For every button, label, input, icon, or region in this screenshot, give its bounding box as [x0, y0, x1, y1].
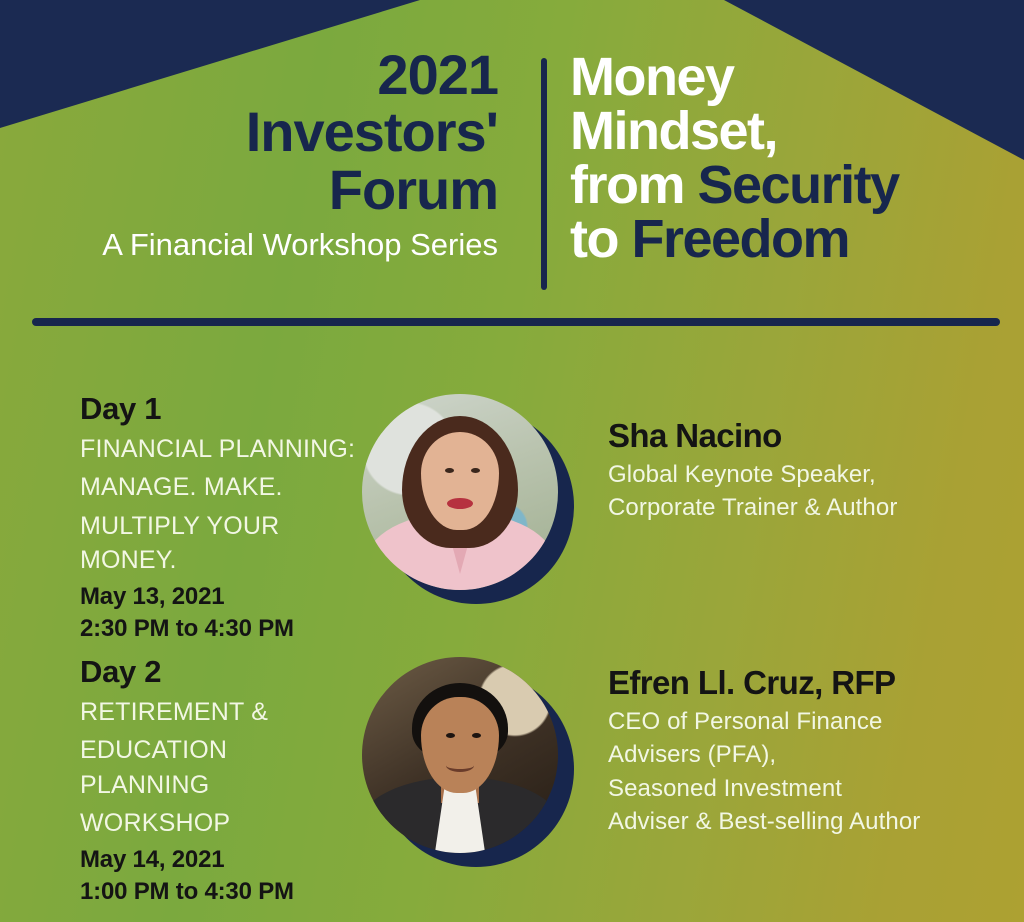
speaker-2-role-line-4: Adviser & Best-selling Author [608, 805, 1008, 838]
poster-header: 2021 Investors' Forum A Financial Worksh… [0, 46, 1024, 296]
speaker-1-name: Sha Nacino [608, 418, 1008, 454]
speaker-2-role-line-1: CEO of Personal Finance [608, 705, 1008, 738]
speaker-2-role-line-3: Seasoned Investment [608, 772, 1008, 805]
day-2-details: Day 2 RETIREMENT & EDUCATION PLANNING WO… [0, 655, 360, 908]
day-row: Day 1 FINANCIAL PLANNING: MANAGE. MAKE. … [0, 392, 1024, 645]
day-2-label: Day 2 [80, 655, 360, 689]
portrait-efren-cruz [362, 657, 558, 853]
speaker-2-photo-wrap [360, 655, 580, 875]
portrait-lips [447, 498, 473, 509]
day-row: Day 2 RETIREMENT & EDUCATION PLANNING WO… [0, 655, 1024, 908]
day-2-topic-line-1: RETIREMENT & [80, 695, 360, 729]
speaker-2-role-line-2: Advisers (PFA), [608, 738, 1008, 771]
event-subtitle: A Financial Workshop Series [0, 228, 498, 262]
speaker-2-name: Efren Ll. Cruz, RFP [608, 665, 1008, 701]
speaker-2-avatar [362, 657, 558, 853]
theme-word-from: from [570, 155, 698, 215]
day-1-time: 2:30 PM to 4:30 PM [80, 613, 360, 645]
day-1-topic-line-3: MULTIPLY YOUR MONEY. [80, 509, 360, 578]
day-1-topic-line-2: MANAGE. MAKE. [80, 470, 360, 504]
theme-word-mindset: Mindset, [570, 101, 777, 161]
portrait-eye-right [471, 468, 480, 473]
portrait-smile [446, 759, 474, 772]
theme-line-1: Money [570, 50, 990, 104]
header-title-block: 2021 Investors' Forum A Financial Worksh… [0, 46, 520, 262]
poster-canvas: 2021 Investors' Forum A Financial Worksh… [0, 0, 1024, 922]
theme-word-money: Money [570, 47, 734, 107]
theme-line-4: to Freedom [570, 212, 990, 266]
portrait-eye-left [446, 733, 455, 738]
day-2-time: 1:00 PM to 4:30 PM [80, 876, 360, 908]
theme-word-security: Security [698, 155, 899, 215]
speaker-1-info: Sha Nacino Global Keynote Speaker, Corpo… [608, 392, 1008, 525]
speaker-1-role-line-1: Global Keynote Speaker, [608, 458, 1008, 491]
day-1-date: May 13, 2021 [80, 581, 360, 613]
day-2-topic-line-3: WORKSHOP [80, 806, 360, 840]
theme-line-2: Mindset, [570, 104, 990, 158]
event-title-line1: Investors' [0, 103, 498, 161]
day-1-label: Day 1 [80, 392, 360, 426]
header-vertical-divider [541, 58, 547, 290]
day-1-details: Day 1 FINANCIAL PLANNING: MANAGE. MAKE. … [0, 392, 360, 645]
speaker-1-avatar [362, 394, 558, 590]
event-title-line2: Forum [0, 161, 498, 219]
day-2-date: May 14, 2021 [80, 844, 360, 876]
day-2-topic-line-2: EDUCATION PLANNING [80, 733, 360, 802]
speaker-2-info: Efren Ll. Cruz, RFP CEO of Personal Fina… [608, 655, 1008, 838]
portrait-sha-nacino [362, 394, 558, 590]
theme-block: Money Mindset, from Security to Freedom [570, 46, 990, 266]
speaker-1-photo-wrap [360, 392, 580, 612]
day-1-topic-line-1: FINANCIAL PLANNING: [80, 432, 360, 466]
speaker-1-role-line-2: Corporate Trainer & Author [608, 491, 1008, 524]
portrait-eye-right [472, 733, 481, 738]
event-year: 2021 [0, 46, 498, 103]
header-horizontal-divider [32, 318, 1000, 326]
theme-word-to: to [570, 209, 631, 269]
theme-line-3: from Security [570, 158, 990, 212]
theme-word-freedom: Freedom [631, 209, 849, 269]
portrait-eye-left [445, 468, 454, 473]
